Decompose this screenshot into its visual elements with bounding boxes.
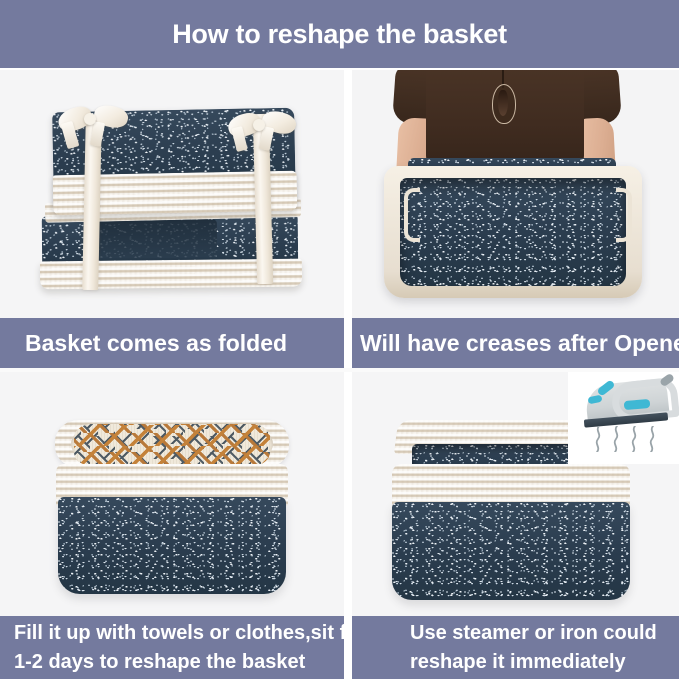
steam-line-icon (648, 426, 657, 452)
steam-line-icon (612, 426, 621, 452)
panel-opened-basket (352, 70, 679, 318)
steam-line-icon (594, 426, 603, 452)
caption-text-line-2: reshape it immediately (410, 648, 679, 676)
caption-folded-basket: Basket comes as folded (0, 318, 344, 368)
caption-text-line: Basket comes as folded (25, 327, 344, 360)
caption-steamed-basket: Use steamer or iron could reshape it imm… (352, 616, 679, 679)
aztec-pattern (74, 424, 270, 466)
navy-speckled-body (392, 502, 630, 600)
rope-handle-left (404, 188, 420, 242)
header-bar: How to reshape the basket (0, 0, 679, 68)
caption-text-line: Will have creases after Opened (360, 327, 679, 360)
caption-text-line-2: 1-2 days to reshape the basket (14, 648, 344, 676)
caption-opened-basket: Will have creases after Opened (352, 318, 679, 368)
aztec-patterned-cloth (74, 424, 270, 466)
panel-steamed-basket (352, 372, 679, 616)
horizontal-divider (0, 368, 679, 372)
pendant-icon (498, 90, 508, 116)
navy-speckled-body (58, 497, 286, 594)
panel-filled-basket (0, 372, 344, 616)
page-title: How to reshape the basket (172, 19, 507, 50)
panel-folded-basket (0, 70, 344, 318)
folded-basket-inner-shadow (97, 219, 217, 258)
basket-interior-navy (400, 178, 626, 286)
vertical-divider (344, 70, 352, 616)
iron-icon-card (568, 372, 679, 464)
caption-text-line-1: Fill it up with towels or clothes,sit fo… (14, 619, 344, 647)
steam-line-icon (630, 426, 639, 452)
reshape-basket-infographic: How to reshape the basket Basket comes a… (0, 0, 679, 679)
caption-text-line-1: Use steamer or iron could (410, 619, 679, 647)
caption-filled-basket: Fill it up with towels or clothes,sit fo… (0, 616, 344, 679)
rope-handle-right (616, 188, 632, 242)
